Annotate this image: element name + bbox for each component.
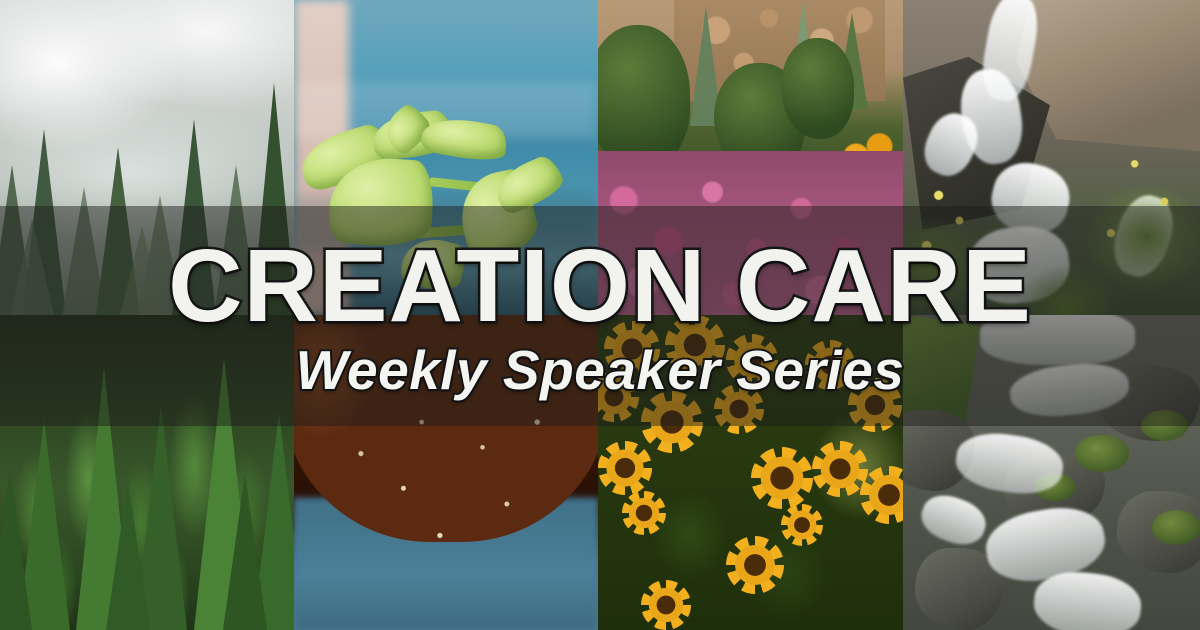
page-subtitle: Weekly Speaker Series [296, 343, 905, 398]
page-title: CREATION CARE [168, 234, 1032, 337]
title-overlay-band: CREATION CARE Weekly Speaker Series [0, 206, 1200, 426]
creation-care-banner: CREATION CARE Weekly Speaker Series [0, 0, 1200, 630]
